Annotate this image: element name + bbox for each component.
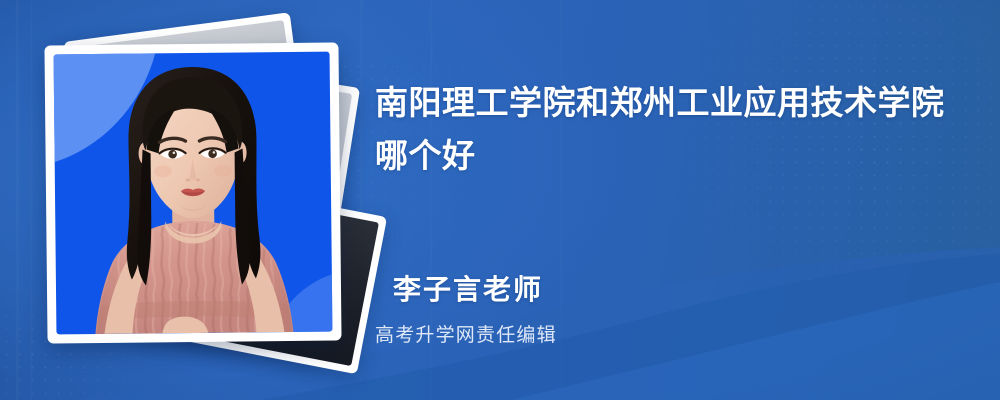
author-photo [54,52,333,335]
author-name: 李子言老师 [393,268,543,308]
author-role: 高考升学网责任编辑 [375,320,557,347]
page-title: 南阳理工学院和郑州工业应用技术学院哪个好 [375,76,947,182]
portrait-illustration [54,52,333,335]
author-photo-card [44,42,341,343]
photo-card-stack [46,26,346,356]
text-column: 南阳理工学院和郑州工业应用技术学院哪个好 李子言老师 高考升学网责任编辑 [375,0,975,400]
article-header-banner: 南阳理工学院和郑州工业应用技术学院哪个好 李子言老师 高考升学网责任编辑 [0,0,1000,400]
